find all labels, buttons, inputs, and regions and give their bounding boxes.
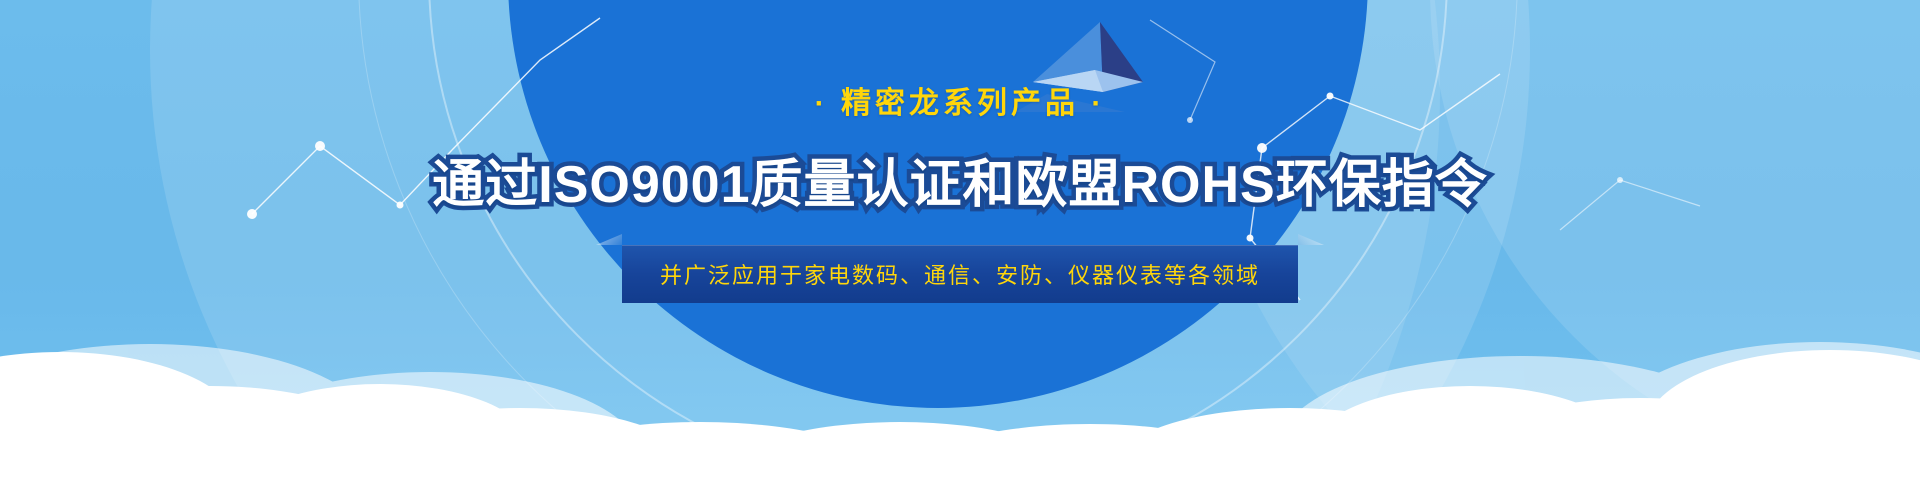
promo-banner: · 精密龙系列产品 · 通过ISO9001质量认证和欧盟ROHS环保指令 并广泛… — [0, 0, 1920, 480]
eyebrow-text: · 精密龙系列产品 · — [815, 78, 1106, 122]
page-title: 通过ISO9001质量认证和欧盟ROHS环保指令 — [432, 142, 1488, 217]
ribbon-tab-right-icon — [1298, 234, 1324, 245]
ribbon-tab-left-icon — [596, 234, 622, 245]
clouds-graphic — [0, 280, 1920, 480]
